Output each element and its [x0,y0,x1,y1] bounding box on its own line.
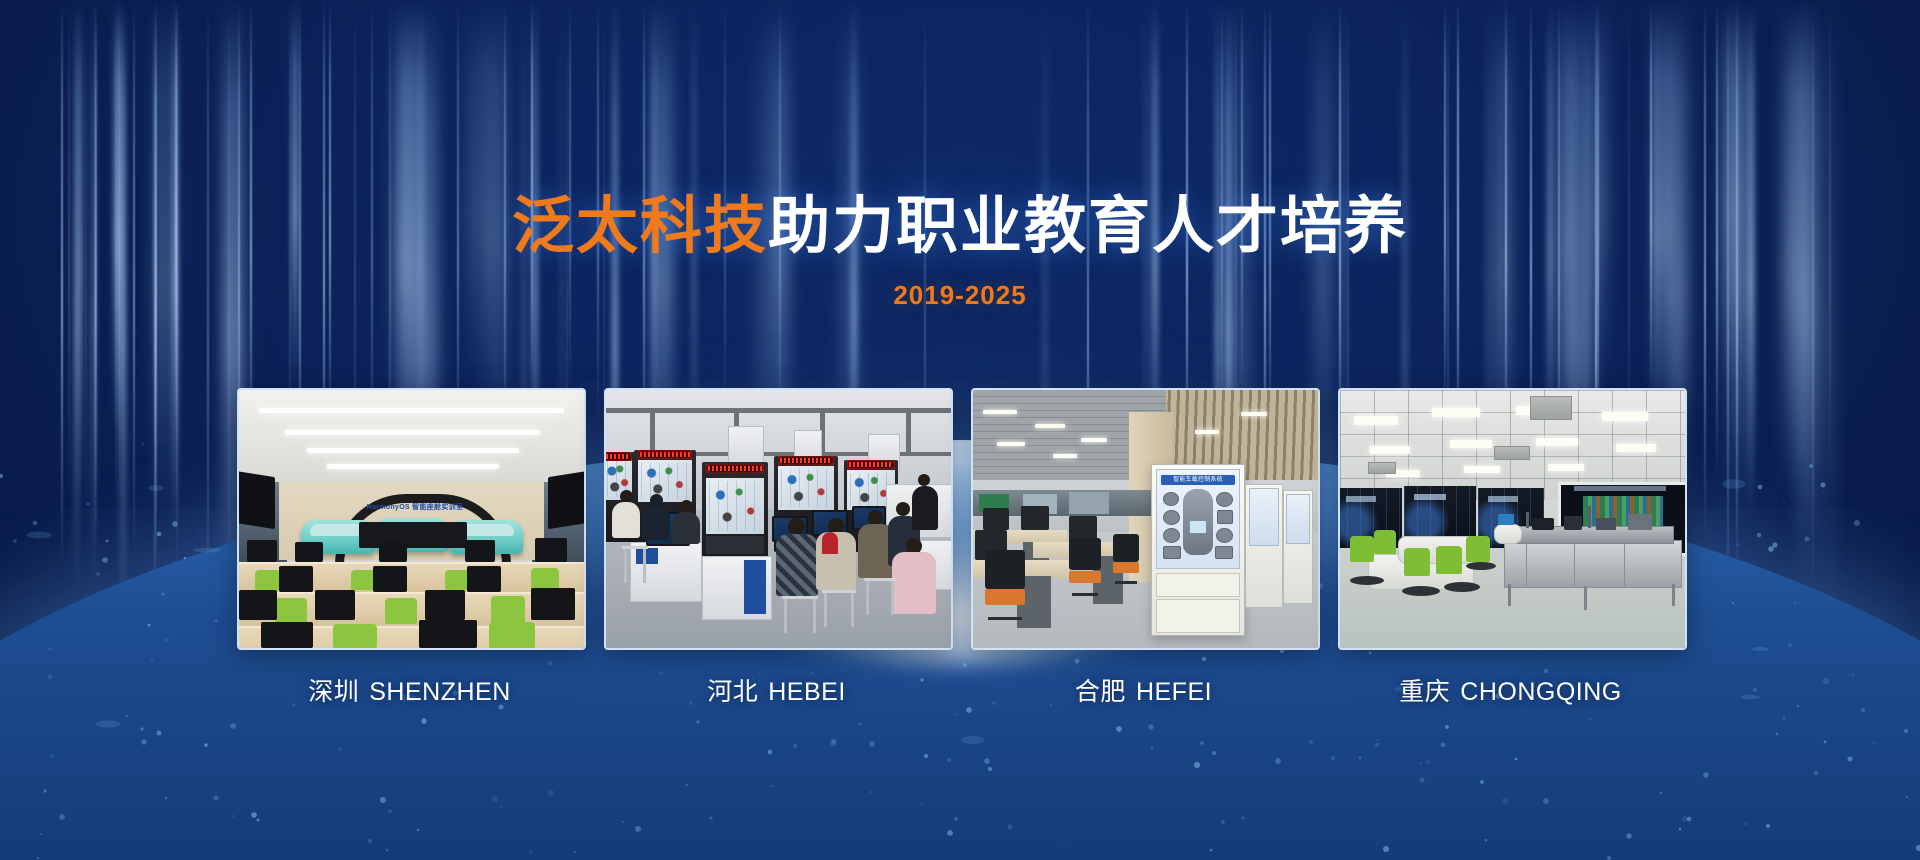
photo-sign-text: 智能车载控制系统 [1161,475,1235,485]
caption-en: HEBEI [768,678,846,706]
caption-cn: 河北 [707,678,758,706]
gallery-caption: 河北HEBEI [604,672,949,708]
gallery-caption: 合肥HEFEI [971,672,1316,708]
caption-cn: 深圳 [308,678,359,706]
caption-en: SHENZHEN [369,678,511,706]
gallery-item-hefei[interactable]: 智能车载控制系统 [971,388,1316,708]
gallery-caption: 重庆CHONGQING [1338,672,1683,708]
caption-en: CHONGQING [1460,678,1621,706]
brand-name: 泛太科技 [512,192,768,261]
photo-frame[interactable]: HarmonyOS 智能座舱实训室 [237,388,586,650]
photo-sign-text: HarmonyOS 智能座舱实训室 [349,502,481,512]
photo-electrical-training-lab-with-students [606,390,951,648]
title-block: 泛太科技助力职业教育人才培养 2019-2025 [0,196,1920,311]
photo-frame[interactable] [604,388,953,650]
gallery-item-chongqing[interactable]: 重庆CHONGQING [1338,388,1683,708]
photo-vehicle-control-system-display-lab: 智能车载控制系统 [973,390,1318,648]
caption-en: HEFEI [1136,678,1212,706]
photo-frame[interactable]: 智能车载控制系统 [971,388,1320,650]
page-title: 泛太科技助力职业教育人才培养 [0,196,1920,258]
gallery-caption: 深圳SHENZHEN [237,672,582,708]
title-tagline: 助力职业教育人才培养 [768,192,1408,261]
caption-cn: 合肥 [1075,678,1126,706]
photo-frame[interactable] [1338,388,1687,650]
subtitle-year-range: 2019-2025 [0,280,1920,311]
promotional-banner: 泛太科技助力职业教育人才培养 2019-2025 HarmonyOS 智能座舱实… [0,0,1920,860]
photo-gallery: HarmonyOS 智能座舱实训室 [237,388,1683,708]
photo-smart-manufacturing-production-line-lab [1340,390,1685,648]
gallery-item-hebei[interactable]: 河北HEBEI [604,388,949,708]
gallery-item-shenzhen[interactable]: HarmonyOS 智能座舱实训室 [237,388,582,708]
caption-cn: 重庆 [1399,678,1450,706]
photo-harmonyos-smart-cockpit-classroom: HarmonyOS 智能座舱实训室 [239,390,584,648]
